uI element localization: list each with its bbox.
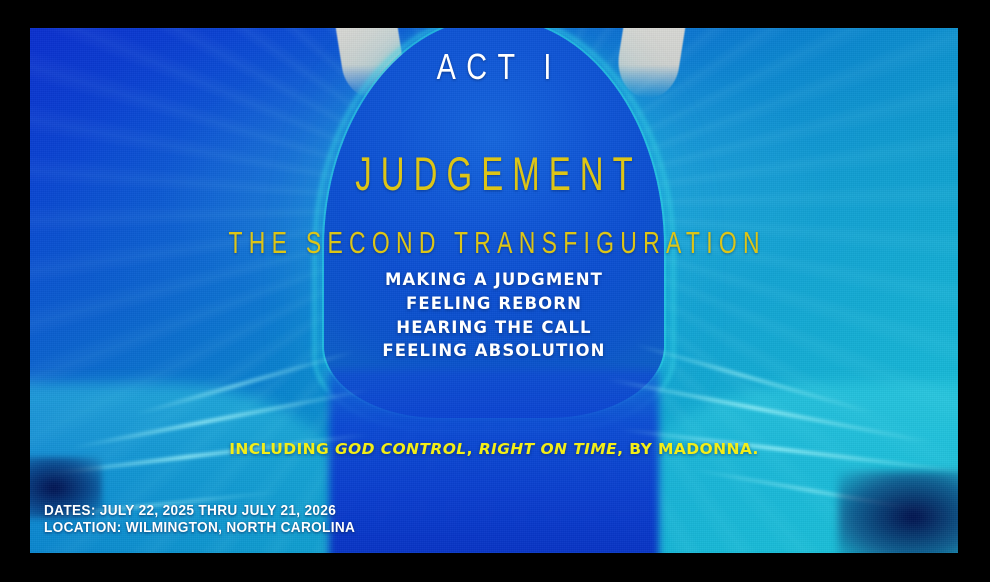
credit-prefix: INCLUDING xyxy=(229,440,335,458)
info-block: DATES: JULY 22, 2025 THRU JULY 21, 2026 … xyxy=(44,503,355,537)
info-location: LOCATION: WILMINGTON, NORTH CAROLINA xyxy=(44,520,355,537)
theme-list-item: FEELING ABSOLUTION xyxy=(30,339,958,363)
theme-list-item: HEARING THE CALL xyxy=(30,316,958,340)
credit-song-two: RIGHT ON TIME xyxy=(479,440,617,458)
info-dates: DATES: JULY 22, 2025 THRU JULY 21, 2026 xyxy=(44,503,355,520)
credit-suffix: , BY MADONNA. xyxy=(617,440,759,458)
theme-list-item: MAKING A JUDGMENT xyxy=(30,268,958,292)
poster-content: ACT I JUDGEMENT THE SECOND TRANSFIGURATI… xyxy=(30,28,958,553)
act-label: ACT I xyxy=(123,46,865,88)
act-title: JUDGEMENT xyxy=(169,150,819,197)
act-subtitle: THE SECOND TRANSFIGURATION xyxy=(151,225,838,261)
credit-line: INCLUDING GOD CONTROL, RIGHT ON TIME, BY… xyxy=(30,440,958,458)
credit-separator: , xyxy=(467,440,479,458)
poster-frame: ACT I JUDGEMENT THE SECOND TRANSFIGURATI… xyxy=(0,0,990,582)
theme-list: MAKING A JUDGMENT FEELING REBORN HEARING… xyxy=(30,268,958,363)
poster-artwork: ACT I JUDGEMENT THE SECOND TRANSFIGURATI… xyxy=(30,28,958,553)
theme-list-item: FEELING REBORN xyxy=(30,292,958,316)
credit-song-one: GOD CONTROL xyxy=(335,440,467,458)
